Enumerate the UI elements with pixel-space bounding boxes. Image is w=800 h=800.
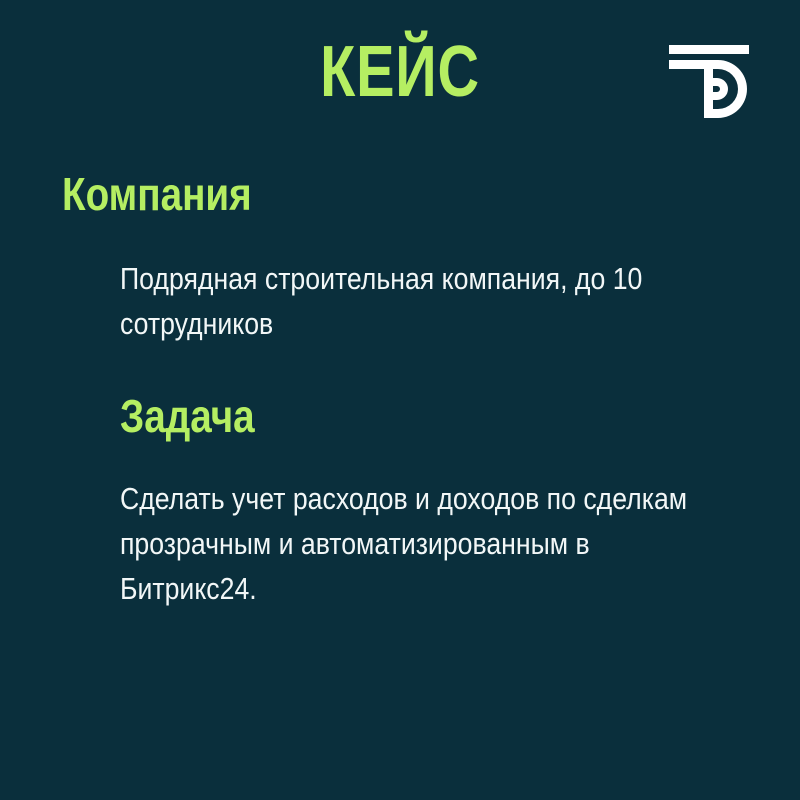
slide-header: КЕЙС — [0, 0, 800, 150]
spacer — [0, 346, 800, 390]
td-logo-icon — [666, 40, 752, 120]
section-body-company: Подрядная строительная компания, до 10 с… — [120, 256, 688, 346]
section-body-task: Сделать учет расходов и доходов по сделк… — [120, 476, 688, 611]
slide-content: Компания Подрядная строительная компания… — [0, 168, 800, 611]
case-slide: КЕЙС Компания Подрядная строительная ком… — [0, 0, 800, 800]
section-task: Задача Сделать учет расходов и доходов п… — [0, 390, 800, 611]
section-heading-company: Компания — [62, 168, 682, 220]
page-title: КЕЙС — [80, 34, 720, 110]
spacer — [0, 220, 800, 256]
spacer — [0, 442, 800, 476]
section-heading-task: Задача — [120, 390, 691, 442]
section-company: Компания Подрядная строительная компания… — [0, 168, 800, 346]
